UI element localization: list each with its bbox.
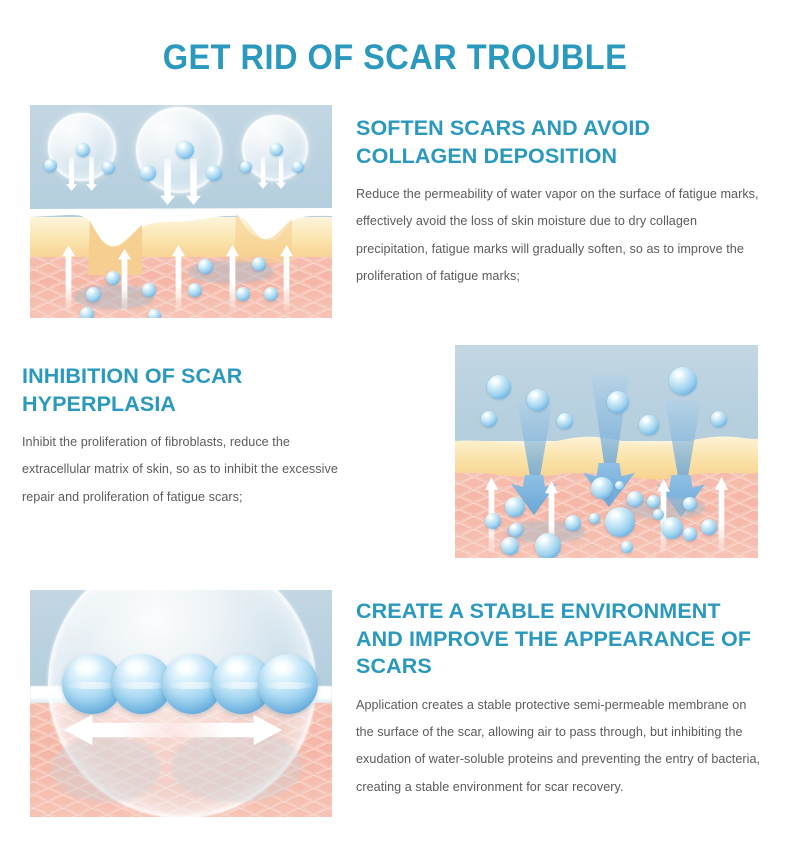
molecule xyxy=(140,165,156,181)
molecule xyxy=(102,161,115,174)
page-title: GET RID OF SCAR TROUBLE xyxy=(28,38,763,78)
molecule xyxy=(236,287,250,301)
molecule xyxy=(557,413,573,429)
molecule-large xyxy=(258,654,318,714)
molecule xyxy=(148,309,161,318)
section-soften-scars: SOFTEN SCARS AND AVOID COLLAGEN DEPOSITI… xyxy=(356,115,766,291)
illustration-inhibition-hyperplasia xyxy=(455,345,758,558)
tissue-blob xyxy=(52,736,160,802)
molecule xyxy=(270,143,283,156)
molecule xyxy=(80,307,94,318)
molecule xyxy=(44,159,57,172)
molecule xyxy=(485,513,501,529)
molecule xyxy=(487,375,511,399)
molecule xyxy=(501,537,519,555)
illustration-stable-environment xyxy=(30,590,332,817)
section-heading: SOFTEN SCARS AND AVOID COLLAGEN DEPOSITI… xyxy=(356,115,766,170)
tissue-blob xyxy=(172,730,302,802)
molecule xyxy=(591,477,613,499)
section-heading: CREATE A STABLE ENVIRONMENT AND IMPROVE … xyxy=(356,598,764,681)
molecule xyxy=(627,491,643,507)
molecule xyxy=(527,389,549,411)
molecule xyxy=(605,507,635,537)
molecule xyxy=(86,287,101,302)
molecule xyxy=(615,481,624,490)
molecule xyxy=(264,287,278,301)
molecule xyxy=(535,533,561,558)
molecule xyxy=(589,513,600,524)
molecule xyxy=(621,541,633,553)
section-body: Application creates a stable protective … xyxy=(356,692,764,802)
molecule xyxy=(661,517,683,539)
molecule xyxy=(206,165,222,181)
molecule xyxy=(669,367,697,395)
molecule xyxy=(607,391,629,413)
molecule xyxy=(176,141,194,159)
molecule xyxy=(565,515,581,531)
molecule xyxy=(647,495,660,508)
illustration-soften-scars xyxy=(30,105,332,318)
section-inhibition-hyperplasia: INHIBITION OF SCAR HYPERPLASIA Inhibit t… xyxy=(22,363,352,511)
molecule xyxy=(198,259,213,274)
molecule xyxy=(683,497,697,511)
molecule xyxy=(481,411,497,427)
molecule xyxy=(711,411,727,427)
molecule xyxy=(505,497,525,517)
molecule xyxy=(509,523,523,537)
molecule xyxy=(76,143,90,157)
molecule xyxy=(683,527,697,541)
section-stable-environment: CREATE A STABLE ENVIRONMENT AND IMPROVE … xyxy=(356,598,764,801)
section-body: Reduce the permeability of water vapor o… xyxy=(356,181,766,291)
molecule xyxy=(653,509,664,520)
molecule xyxy=(701,519,717,535)
infographic-page: GET RID OF SCAR TROUBLE xyxy=(0,0,790,843)
molecule xyxy=(252,257,266,271)
molecule xyxy=(188,283,202,297)
molecule xyxy=(292,161,304,173)
molecule xyxy=(142,283,156,297)
molecule xyxy=(639,415,659,435)
section-heading: INHIBITION OF SCAR HYPERPLASIA xyxy=(22,363,352,418)
section-body: Inhibit the proliferation of fibroblasts… xyxy=(22,429,352,511)
molecule xyxy=(240,161,252,173)
molecule xyxy=(106,271,120,285)
